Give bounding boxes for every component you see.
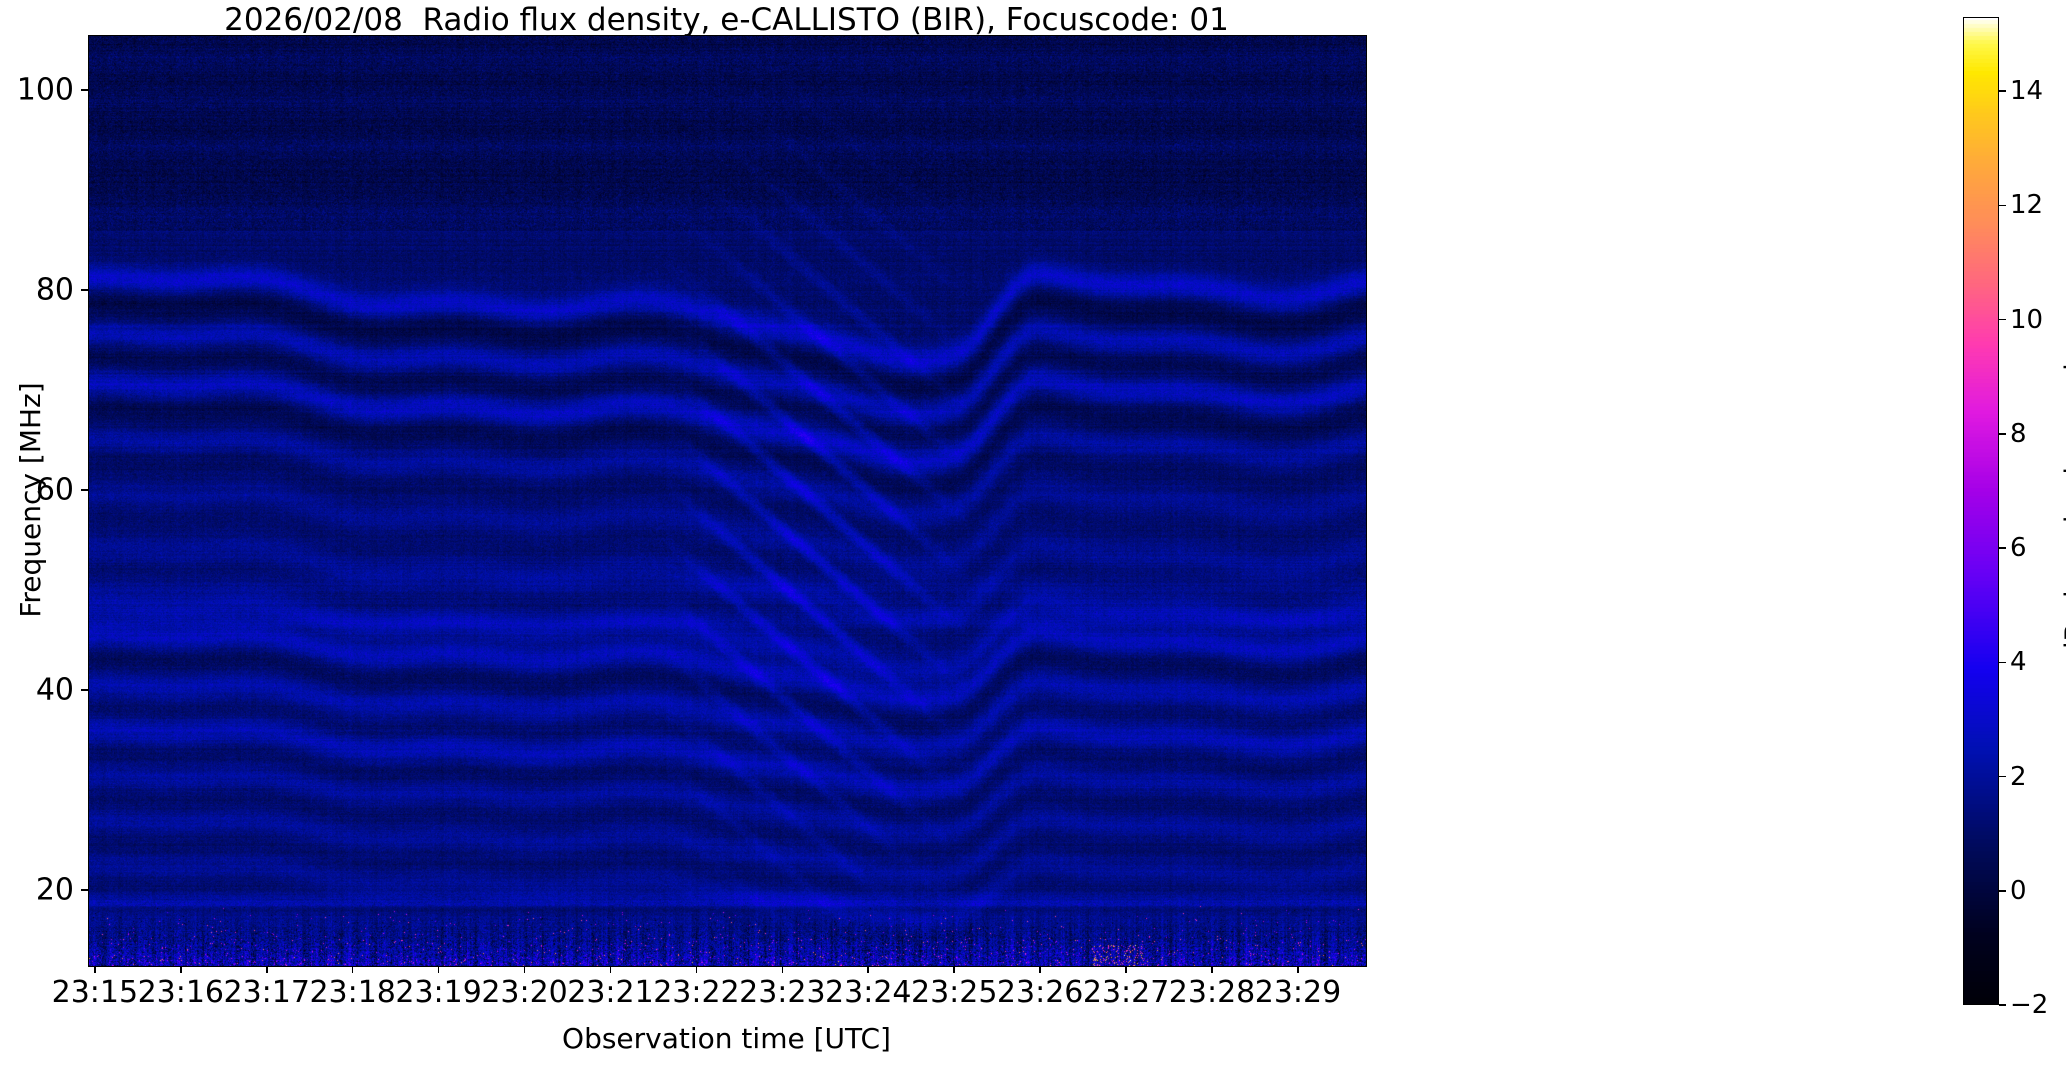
colorbar-tick-label: 14 [2010,76,2043,106]
x-tick-label: 23:28 [1169,975,1255,1010]
colorbar-tick-mark [1999,433,2006,435]
x-tick-label: 23:22 [653,975,739,1010]
colorbar-tick-mark [1999,319,2006,321]
colorbar-tick-label: 2 [2010,762,2027,792]
chart-title: 2026/02/08 Radio flux density, e-CALLIST… [88,2,1365,38]
x-tick-label: 23:29 [1255,975,1341,1010]
colorbar-label: dB above background [2060,17,2066,1005]
x-tick-mark [266,966,268,973]
figure-canvas: 2026/02/08 Radio flux density, e-CALLIST… [0,0,2066,1067]
colorbar-tick-mark [1999,547,2006,549]
x-axis-label: Observation time [UTC] [88,1022,1365,1055]
x-tick-label: 23:20 [481,975,567,1010]
x-tick-label: 23:19 [395,975,481,1010]
y-tick-mark [81,689,88,691]
colorbar-tick-label: 6 [2010,533,2027,563]
x-tick-label: 23:16 [138,975,224,1010]
colorbar-tick-mark [1999,776,2006,778]
x-tick-mark [1039,966,1041,973]
spectrogram-image[interactable] [89,36,1366,966]
colorbar-tick-label: 0 [2010,876,2027,906]
y-tick-label: 60 [0,473,74,508]
x-tick-label: 23:17 [224,975,310,1010]
colorbar-tick-label: 4 [2010,647,2027,677]
colorbar-tick-mark [1999,662,2006,664]
colorbar-tick-mark [1999,890,2006,892]
x-tick-mark [1297,966,1299,973]
y-tick-label: 20 [0,873,74,908]
x-tick-label: 23:26 [997,975,1083,1010]
colorbar-tick-label: 8 [2010,419,2027,449]
x-tick-label: 23:23 [739,975,825,1010]
x-tick-mark [180,966,182,973]
colorbar-gradient [1963,17,1999,1005]
colorbar-tick-label: 12 [2010,190,2043,220]
colorbar-tick-mark [1999,205,2006,207]
x-tick-mark [696,966,698,973]
x-tick-mark [352,966,354,973]
y-tick-mark [81,89,88,91]
y-tick-mark [81,489,88,491]
y-tick-mark [81,889,88,891]
x-tick-label: 23:21 [567,975,653,1010]
x-tick-label: 23:18 [309,975,395,1010]
colorbar-tick-label: 10 [2010,305,2043,335]
x-tick-mark [1125,966,1127,973]
x-tick-mark [524,966,526,973]
x-tick-mark [953,966,955,973]
colorbar-tick-label: −2 [2010,990,2048,1020]
y-tick-mark [81,289,88,291]
spectrogram-plot[interactable] [88,35,1367,967]
x-tick-mark [610,966,612,973]
colorbar[interactable] [1963,17,1999,1005]
y-tick-label: 80 [0,273,74,308]
x-tick-mark [438,966,440,973]
y-tick-label: 100 [0,73,74,108]
x-tick-mark [1211,966,1213,973]
x-tick-mark [867,966,869,973]
x-tick-label: 23:24 [825,975,911,1010]
x-tick-label: 23:25 [911,975,997,1010]
x-tick-mark [94,966,96,973]
x-tick-label: 23:27 [1083,975,1169,1010]
x-tick-mark [782,966,784,973]
colorbar-tick-mark [1999,90,2006,92]
colorbar-tick-mark [1999,1004,2006,1006]
y-tick-label: 40 [0,673,74,708]
x-tick-label: 23:15 [52,975,138,1010]
